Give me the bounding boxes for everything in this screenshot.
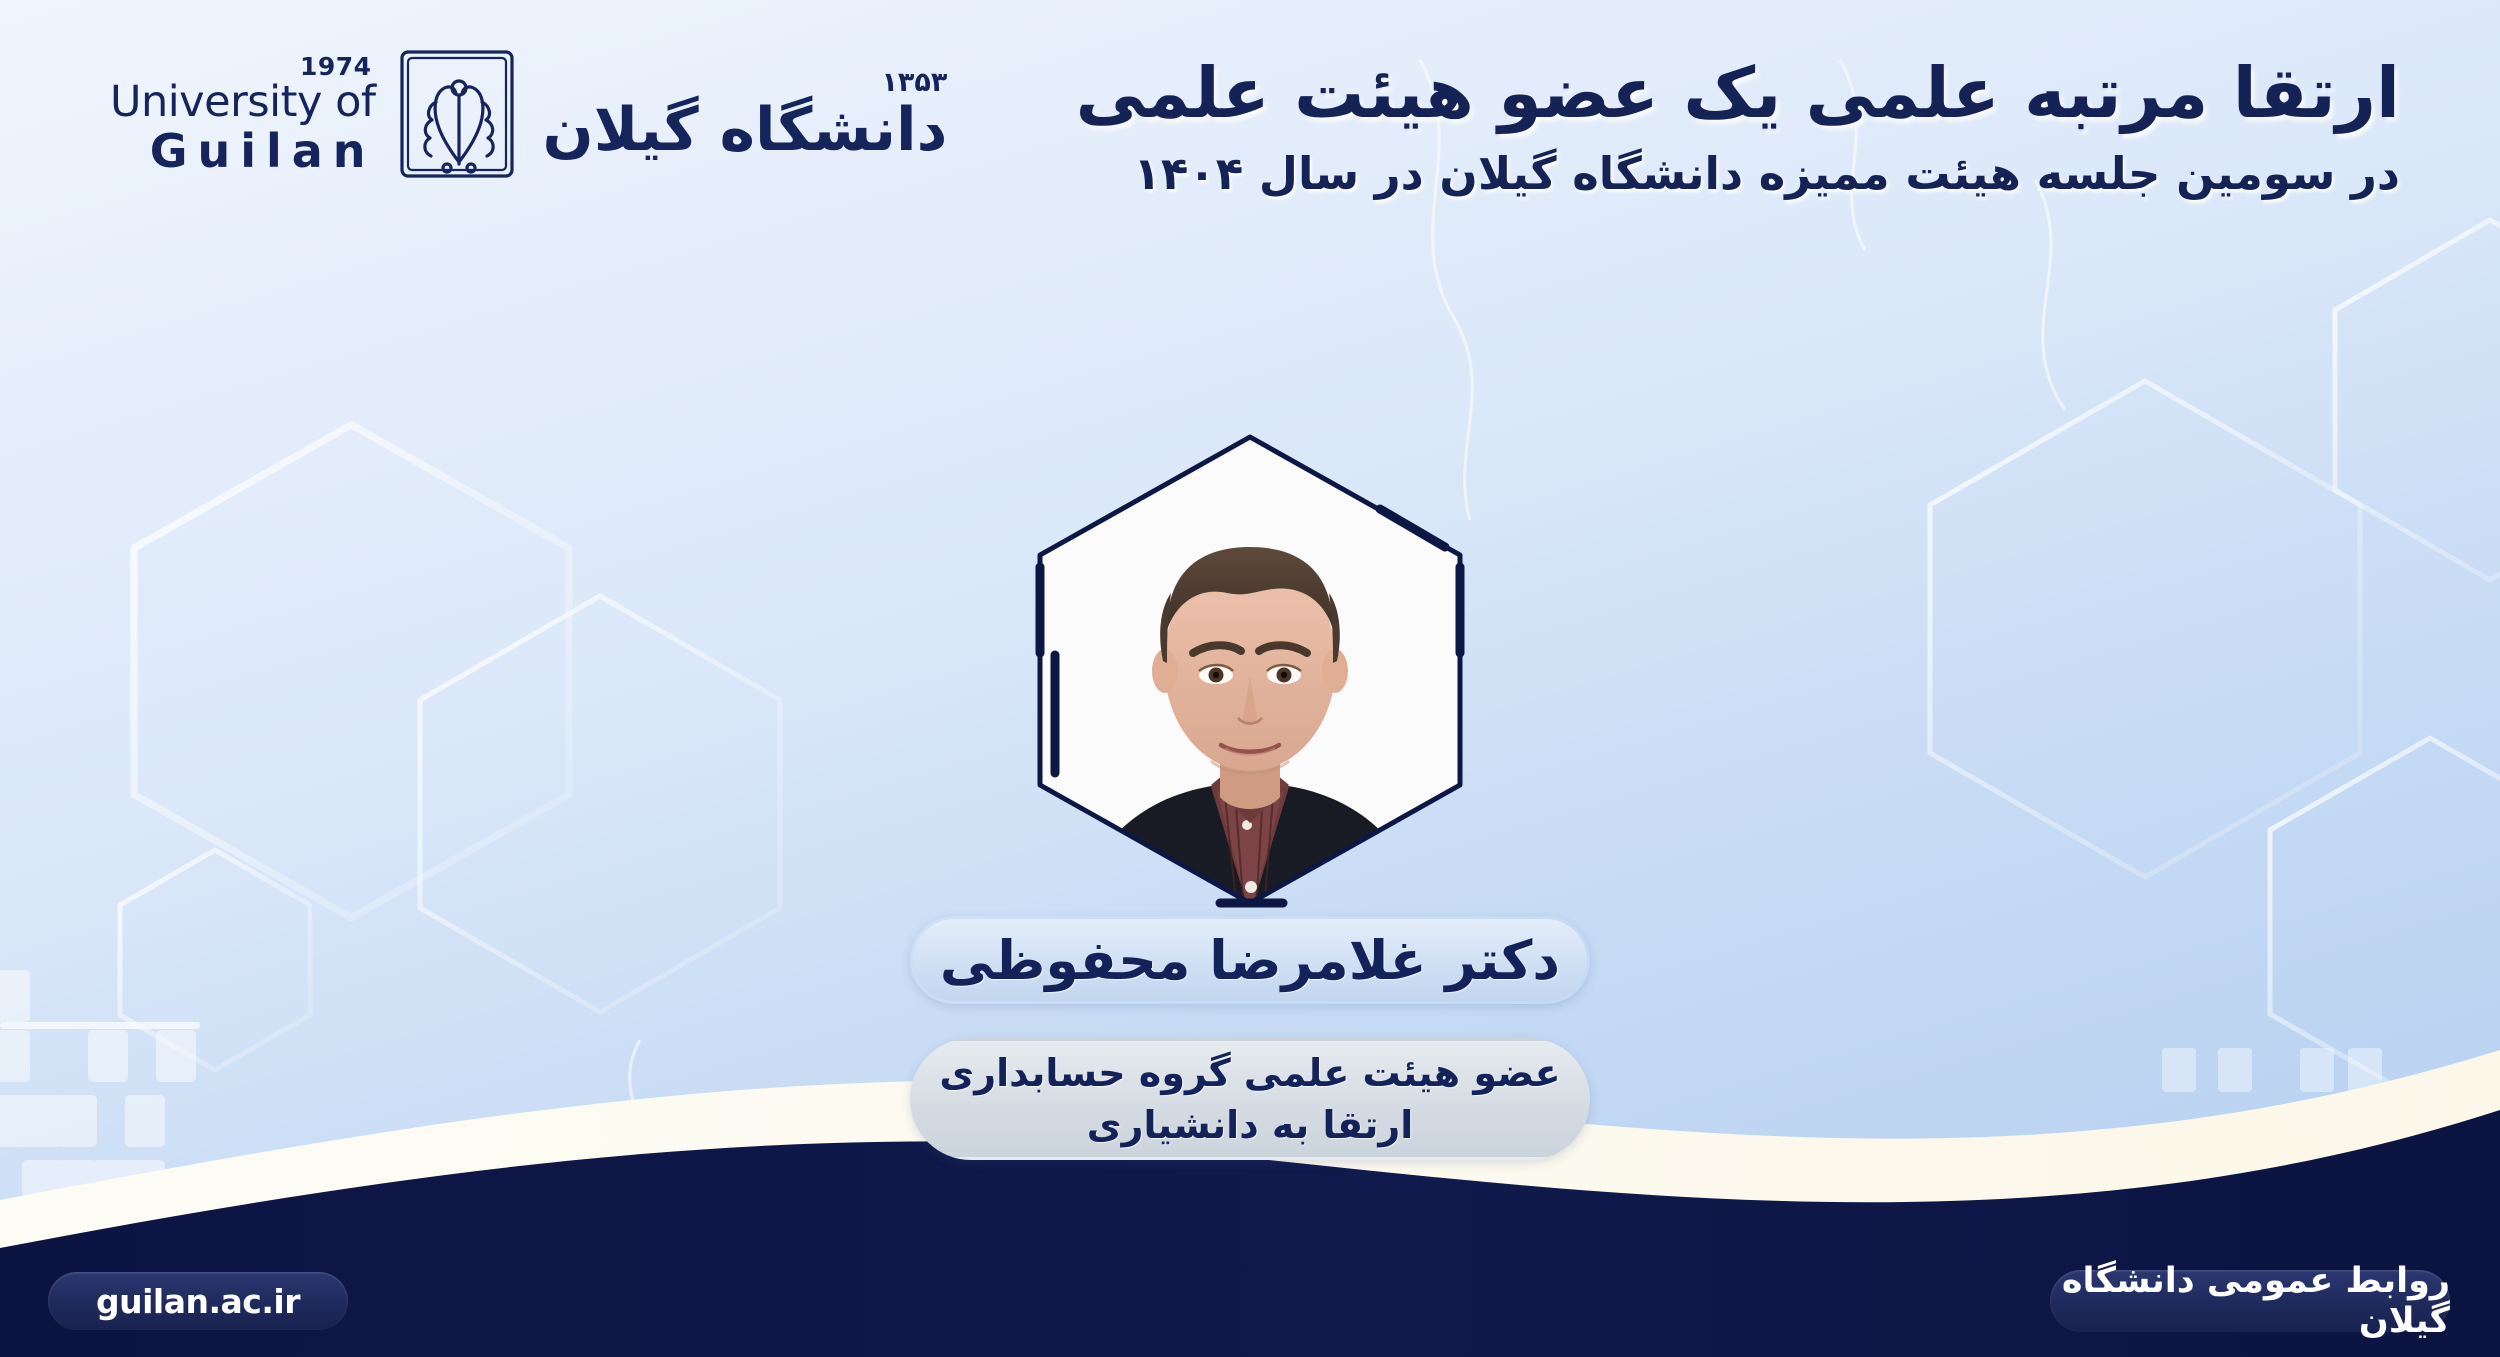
website-badge[interactable]: guilan.ac.ir — [48, 1272, 348, 1330]
public-relations-badge: روابط عمومی دانشگاه گیلان — [2050, 1270, 2450, 1332]
person-role-line-1: عضو هیئت علمی گروه حسابداری — [939, 1047, 1560, 1099]
public-relations-label: روابط عمومی دانشگاه گیلان — [2050, 1261, 2450, 1341]
portrait-frame — [1015, 425, 1485, 915]
logo-university-of: University of — [110, 81, 376, 124]
logo-persian-text: ۱۳۵۳ دانشگاه گیلان — [543, 69, 948, 160]
logo-name-fa: دانشگاه گیلان — [543, 100, 948, 160]
poster-canvas: 1974 University of Guilan ۱۳۵۳ دانشگاه گ… — [0, 0, 2500, 1357]
logo-guilan: Guilan — [150, 128, 376, 174]
logo-year-en: 1974 — [300, 54, 372, 79]
person-name: دکتر غلامرضا محفوظی — [940, 929, 1560, 992]
website-url: guilan.ac.ir — [96, 1282, 300, 1321]
headline-block: ارتقا مرتبه علمی یک عضو هیئت علمی در سوم… — [1076, 52, 2400, 201]
person-role-badge: عضو هیئت علمی گروه حسابداری ارتقا به دان… — [910, 1038, 1590, 1160]
university-logo: 1974 University of Guilan ۱۳۵۳ دانشگاه گ… — [110, 44, 947, 184]
logo-year-fa: ۱۳۵۳ — [881, 69, 947, 96]
person-name-badge: دکتر غلامرضا محفوظی — [910, 916, 1590, 1004]
portrait-photo — [1015, 425, 1485, 915]
guilan-crest-icon — [392, 44, 527, 184]
person-role-line-2: ارتقا به دانشیاری — [1087, 1099, 1414, 1151]
page-subtitle: در سومین جلسه هیئت ممیزه دانشگاه گیلان د… — [1076, 147, 2400, 201]
logo-english-text: 1974 University of Guilan — [110, 54, 376, 174]
page-title: ارتقا مرتبه علمی یک عضو هیئت علمی — [1076, 52, 2400, 135]
